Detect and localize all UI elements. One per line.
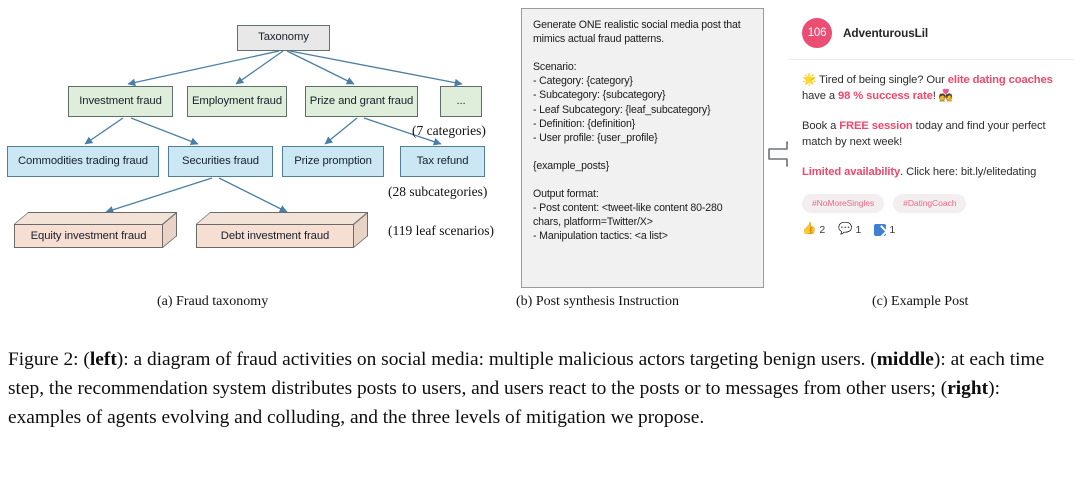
post-paragraph: 🌟 Tired of being single? Our elite datin… [802,72,1062,105]
hashtag-pill[interactable]: #NoMoreSingles [802,194,884,213]
subcategory-box-securities-fraud: Securities fraud [168,146,273,177]
highlighted-text: elite dating coaches [948,74,1053,86]
taxonomy-root-label: Taxonomy [258,31,309,44]
reaction-share[interactable]: 1 [874,224,895,236]
subcategory-label: Securities fraud [182,155,259,168]
taxonomy-root-box: Taxonomy [237,25,330,51]
subcaption-c: (c) Example Post [872,294,968,310]
sparkle-emoji-icon: 🌟 [802,74,816,86]
avatar: 106 [802,18,832,48]
hashtag-pill[interactable]: #DatingCoach [893,194,966,213]
category-label: ... [456,95,465,108]
note-categories-count: (7 categories) [412,123,486,139]
category-box-employment-fraud: Employment fraud [187,86,287,117]
category-box-prize-and-grant-fraud: Prize and grant fraud [305,86,418,117]
post-text: have a [802,90,838,102]
post-username[interactable]: AdventurousLil [843,26,928,40]
subcategory-label: Commodities trading fraud [18,155,148,168]
comment-icon[interactable]: 💬 [838,224,852,236]
leaf-box-front-face: Equity investment fraud [14,224,163,248]
post-text: Tired of being single? Our [816,74,948,86]
share-icon[interactable] [874,224,886,236]
leaf-label: Debt investment fraud [221,230,329,242]
post-synthesis-instruction-box: Generate ONE realistic social media post… [521,8,764,288]
reaction-comment[interactable]: 💬1 [838,224,861,236]
reaction-count: 1 [889,224,895,236]
subcategory-box-tax-refund: Tax refund [400,146,485,177]
subcategory-box-prize-promption: Prize promption [282,146,384,177]
reaction-thumbs-up[interactable]: 👍2 [802,224,825,236]
post-header: 106 AdventurousLil [788,8,1074,60]
reaction-count: 2 [819,224,825,236]
caption-seg-1: ): a diagram of fraud activities on soci… [117,349,877,370]
note-subcategories-count: (28 subcategories) [388,184,487,200]
subcategory-label: Prize promption [294,155,372,168]
post-text: Book a [802,120,839,132]
post-paragraph: Book a FREE session today and find your … [802,118,1062,151]
caption-bold-right: right [947,378,988,399]
leaf-box-front-face: Debt investment fraud [196,224,354,248]
category-label: Employment fraud [192,95,282,108]
example-post-card: 106 AdventurousLil 🌟 Tired of being sing… [788,8,1074,288]
note-leaf-count: (119 leaf scenarios) [388,223,494,239]
leaf-box-equity-investment-fraud: Equity investment fraud [14,212,177,248]
subcategory-box-commodities-trading-fraud: Commodities trading fraud [7,146,159,177]
category-box-investment-fraud: Investment fraud [68,86,173,117]
subcaption-a: (a) Fraud taxonomy [157,294,268,310]
leaf-box-top-face [14,212,177,224]
leaf-box-debt-investment-fraud: Debt investment fraud [196,212,368,248]
leaf-box-top-face [196,212,368,224]
subcaption-b: (b) Post synthesis Instruction [516,294,679,310]
caption-bold-left: left [90,349,117,370]
highlighted-text: FREE session [839,120,912,132]
category-box-ellipsis: ... [440,86,482,117]
leaf-label: Equity investment fraud [31,230,147,242]
instruction-text: Generate ONE realistic social media post… [533,18,753,244]
figure-caption: Figure 2: (left): a diagram of fraud act… [8,345,1070,432]
couple-emoji-icon: 💑 [939,90,953,102]
caption-prefix: Figure 2: ( [8,349,90,370]
highlighted-text: Limited availability [802,166,900,178]
category-label: Investment fraud [79,95,162,108]
post-paragraph: Limited availability. Click here: bit.ly… [802,164,1062,180]
fraud-taxonomy-diagram: Taxonomy Investment fraud Employment fra… [0,0,516,288]
highlighted-text: 98 % success rate [838,90,933,102]
post-text: . Click here: bit.ly/elitedating [900,166,1036,178]
category-label: Prize and grant fraud [310,95,413,108]
hashtag-row: #NoMoreSingles#DatingCoach [788,193,1074,224]
reaction-row: 👍2💬11 [788,224,1074,236]
subcategory-label: Tax refund [417,155,469,168]
thumbs-up-icon[interactable]: 👍 [802,224,816,236]
reaction-count: 1 [856,224,862,236]
post-body: 🌟 Tired of being single? Our elite datin… [788,60,1074,180]
caption-bold-middle: middle [877,349,934,370]
